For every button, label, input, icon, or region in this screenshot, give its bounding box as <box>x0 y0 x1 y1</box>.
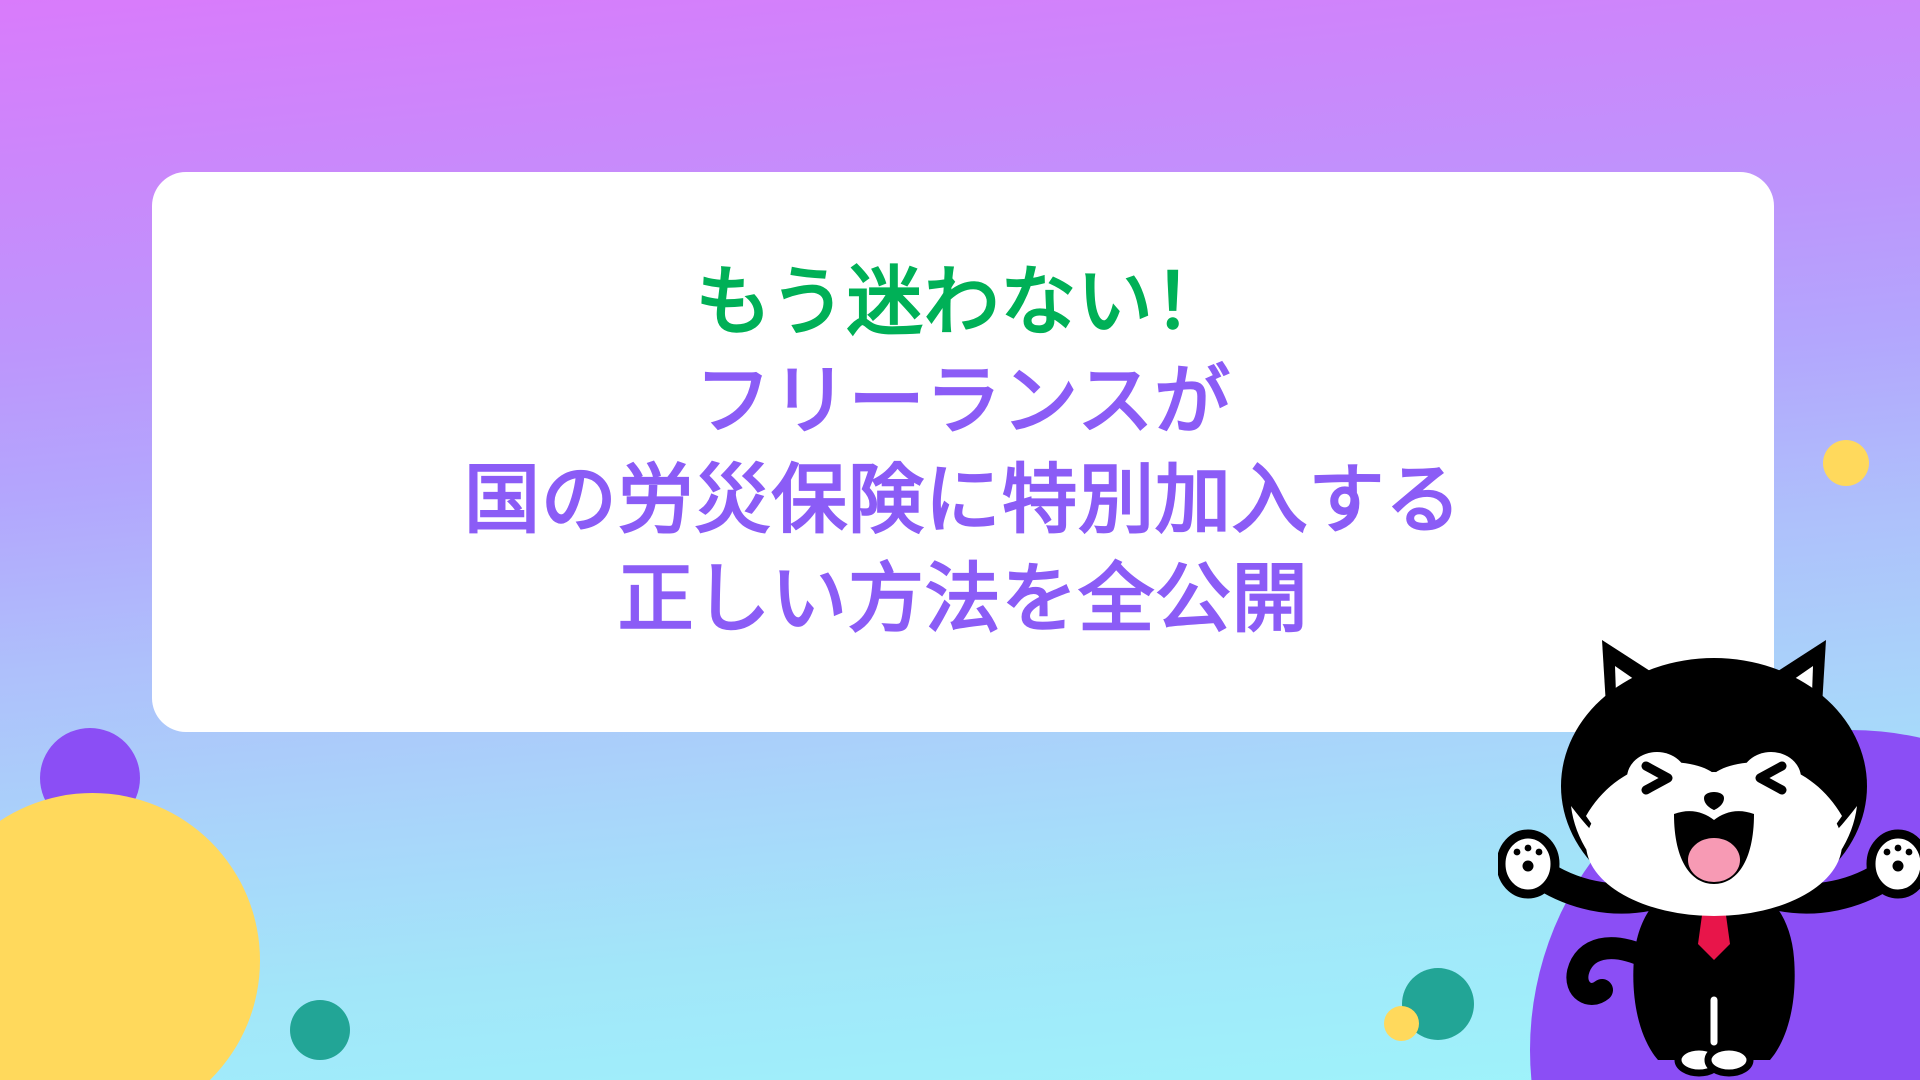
title-line-4: 正しい方法を全公開 <box>618 551 1309 650</box>
yellow-circle-large-left <box>0 793 260 1080</box>
cat-left-eye-patch <box>1627 752 1687 804</box>
black-cat-mascot <box>1498 628 1920 1080</box>
title-line-3: 国の労災保険に特別加入する <box>464 452 1462 551</box>
teal-circle-small-left <box>290 1000 350 1060</box>
cat-tongue <box>1688 838 1740 882</box>
cat-feet <box>1678 1047 1750 1073</box>
cat-left-paw <box>1501 834 1555 894</box>
cat-right-eye-patch <box>1741 752 1801 804</box>
title-line-1: もう迷わない！ <box>695 254 1230 353</box>
yellow-circle-mid-right <box>1384 1006 1419 1041</box>
cat-right-paw <box>1871 834 1920 894</box>
title-line-2: フリーランスが <box>695 353 1231 452</box>
yellow-circle-right-edge <box>1823 440 1869 486</box>
banner-canvas: もう迷わない！ フリーランスが 国の労災保険に特別加入する 正しい方法を全公開 <box>0 0 1920 1080</box>
